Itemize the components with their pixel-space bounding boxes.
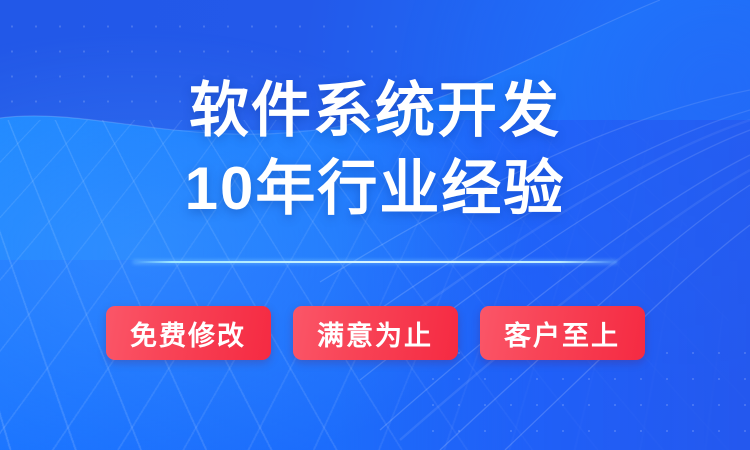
badge-group: 免费修改 满意为止 客户至上 (106, 306, 645, 360)
promo-banner: 软件系统开发 10年行业经验 免费修改 满意为止 客户至上 (0, 0, 750, 450)
badge-customer-first[interactable]: 客户至上 (480, 306, 645, 360)
banner-content: 软件系统开发 10年行业经验 免费修改 满意为止 客户至上 (0, 0, 750, 450)
headline-secondary: 10年行业经验 (185, 154, 566, 224)
badge-until-satisfied[interactable]: 满意为止 (293, 306, 458, 360)
headline-primary: 软件系统开发 (189, 76, 561, 146)
badge-free-revision[interactable]: 免费修改 (106, 306, 271, 360)
divider-line (133, 261, 617, 263)
